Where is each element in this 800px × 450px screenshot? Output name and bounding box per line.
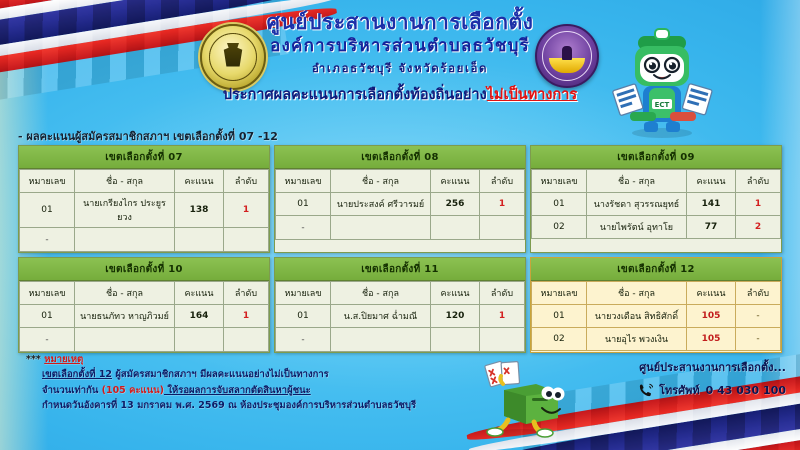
cell-name: นายไพรัตน์ อุทาโย bbox=[587, 216, 687, 239]
results-subtitle: - ผลคะแนนผู้สมัครสมาชิกสภาฯ เขตเลือกตั้ง… bbox=[18, 127, 278, 145]
district-title: เขตเลือกตั้งที่ 07 bbox=[19, 146, 269, 169]
note-district-ref: เขตเลือกตั้งที่ 12 bbox=[42, 369, 112, 380]
cell-score: 120 bbox=[431, 305, 480, 328]
announcement-unofficial-warning: ไม่เป็นทางการ bbox=[487, 87, 577, 103]
cell-name: นายเกรียงไกร ประยูรยวง bbox=[75, 193, 175, 228]
district-results-grid: เขตเลือกตั้งที่ 07 หมายเลข ชื่อ - สกุล ค… bbox=[18, 145, 783, 353]
col-score: คะแนน bbox=[687, 282, 736, 305]
district-card: เขตเลือกตั้งที่ 07 หมายเลข ชื่อ - สกุล ค… bbox=[18, 145, 270, 253]
cell-score bbox=[431, 216, 480, 240]
table-row: - bbox=[20, 228, 269, 252]
district-card: เขตเลือกตั้งที่ 11 หมายเลข ชื่อ - สกุล ค… bbox=[274, 257, 526, 353]
contact-office: ศูนย์ประสานงานการเลือกตั้ง... bbox=[638, 358, 786, 376]
district-table: หมายเลข ชื่อ - สกุล คะแนน ลำดับ 01 น.ส.ป… bbox=[275, 281, 525, 352]
ballot-box-mascot bbox=[470, 360, 566, 438]
table-header-row: หมายเลข ชื่อ - สกุล คะแนน ลำดับ bbox=[276, 282, 525, 305]
cell-number: - bbox=[20, 228, 75, 252]
cell-rank: 2 bbox=[736, 216, 781, 239]
table-header-row: หมายเลข ชื่อ - สกุล คะแนน ลำดับ bbox=[20, 282, 269, 305]
table-row: 02 นายอุไร พวงเงิน 105 - bbox=[532, 328, 781, 351]
col-score: คะแนน bbox=[431, 282, 480, 305]
district-title: เขตเลือกตั้งที่ 08 bbox=[275, 146, 525, 169]
district-table: หมายเลข ชื่อ - สกุล คะแนน ลำดับ 01 นายปร… bbox=[275, 169, 525, 240]
cell-rank: - bbox=[736, 328, 781, 351]
col-number: หมายเลข bbox=[532, 282, 587, 305]
cell-rank: 1 bbox=[480, 305, 525, 328]
cell-name bbox=[331, 328, 431, 352]
note-line-1: เขตเลือกตั้งที่ 12 ผู้สมัครสมาชิกสภาฯ มี… bbox=[26, 367, 416, 382]
cell-number: 01 bbox=[20, 305, 75, 328]
cell-rank: 1 bbox=[480, 193, 525, 216]
cell-score: 77 bbox=[687, 216, 736, 239]
footer-note: *** หมายเหตุ เขตเลือกตั้งที่ 12 ผู้สมัคร… bbox=[26, 352, 416, 414]
cell-number: 02 bbox=[532, 328, 587, 351]
cell-score: 164 bbox=[175, 305, 224, 328]
cell-score bbox=[175, 328, 224, 352]
note-line-3: กำหนดวันอังคารที่ 13 มกราคม พ.ศ. 2569 ณ … bbox=[26, 398, 416, 413]
cell-name: นายอุไร พวงเงิน bbox=[587, 328, 687, 351]
svg-text:ECT: ECT bbox=[655, 101, 670, 109]
cell-score bbox=[175, 228, 224, 252]
table-row: - bbox=[276, 328, 525, 352]
contact-phone-row: โทรศัพท์ 0 43 030 100 bbox=[638, 381, 786, 399]
note-tied-score: (105 คะแนน) bbox=[102, 385, 164, 396]
table-header-row: หมายเลข ชื่อ - สกุล คะแนน ลำดับ bbox=[276, 170, 525, 193]
table-row: - bbox=[20, 328, 269, 352]
table-row: 01 นางรัชดา สุวรรณยุทธ์ 141 1 bbox=[532, 193, 781, 216]
note-stars: *** bbox=[26, 354, 41, 365]
table-header-row: หมายเลข ชื่อ - สกุล คะแนน ลำดับ bbox=[532, 282, 781, 305]
poster-canvas: ศูนย์ประสานงานการเลือกตั้ง องค์การบริหาร… bbox=[0, 0, 800, 450]
district-card: เขตเลือกตั้งที่ 08 หมายเลข ชื่อ - สกุล ค… bbox=[274, 145, 526, 253]
cell-number: - bbox=[276, 328, 331, 352]
col-name: ชื่อ - สกุล bbox=[587, 170, 687, 193]
table-row: 02 นายไพรัตน์ อุทาโย 77 2 bbox=[532, 216, 781, 239]
col-rank: ลำดับ bbox=[224, 282, 269, 305]
col-number: หมายเลข bbox=[532, 170, 587, 193]
cell-number: 01 bbox=[276, 193, 331, 216]
note-line-2-text-b: ให้รอผลการจับสลากตัดสินหาผู้ชนะ bbox=[164, 385, 311, 396]
table-row: 01 นายวงเดือน สิทธิศักดิ์ 105 - bbox=[532, 305, 781, 328]
district-card: เขตเลือกตั้งที่ 09 หมายเลข ชื่อ - สกุล ค… bbox=[530, 145, 782, 253]
district-card: เขตเลือกตั้งที่ 10 หมายเลข ชื่อ - สกุล ค… bbox=[18, 257, 270, 353]
phone-icon bbox=[638, 383, 653, 398]
ect-robot-mascot: ECT bbox=[602, 20, 722, 140]
col-name: ชื่อ - สกุล bbox=[75, 282, 175, 305]
cell-name: นางรัชดา สุวรรณยุทธ์ bbox=[587, 193, 687, 216]
col-score: คะแนน bbox=[687, 170, 736, 193]
district-card-tie: เขตเลือกตั้งที่ 12 หมายเลข ชื่อ - สกุล ค… bbox=[530, 257, 782, 353]
contact-block: ศูนย์ประสานงานการเลือกตั้ง... โทรศัพท์ 0… bbox=[638, 358, 786, 399]
col-rank: ลำดับ bbox=[480, 282, 525, 305]
table-header-row: หมายเลข ชื่อ - สกุล คะแนน ลำดับ bbox=[20, 170, 269, 193]
cell-rank bbox=[224, 328, 269, 352]
cell-name: น.ส.ปิยมาศ ฉ่ำมณี bbox=[331, 305, 431, 328]
cell-rank: 1 bbox=[224, 193, 269, 228]
cell-rank: - bbox=[736, 305, 781, 328]
cell-score: 256 bbox=[431, 193, 480, 216]
district-table: หมายเลข ชื่อ - สกุล คะแนน ลำดับ 01 นายเก… bbox=[19, 169, 269, 252]
district-table: หมายเลข ชื่อ - สกุล คะแนน ลำดับ 01 นางรั… bbox=[531, 169, 781, 239]
cell-score: 105 bbox=[687, 305, 736, 328]
col-name: ชื่อ - สกุล bbox=[331, 170, 431, 193]
cell-number: 01 bbox=[276, 305, 331, 328]
cell-name bbox=[75, 228, 175, 252]
district-title: เขตเลือกตั้งที่ 09 bbox=[531, 146, 781, 169]
cell-rank: 1 bbox=[224, 305, 269, 328]
cell-number: - bbox=[276, 216, 331, 240]
cell-score bbox=[431, 328, 480, 352]
table-row: 01 น.ส.ปิยมาศ ฉ่ำมณี 120 1 bbox=[276, 305, 525, 328]
cell-score: 141 bbox=[687, 193, 736, 216]
district-table: หมายเลข ชื่อ - สกุล คะแนน ลำดับ 01 นายวง… bbox=[531, 281, 781, 351]
col-number: หมายเลข bbox=[276, 170, 331, 193]
cell-score: 138 bbox=[175, 193, 224, 228]
district-table: หมายเลข ชื่อ - สกุล คะแนน ลำดับ 01 นายธน… bbox=[19, 281, 269, 352]
col-rank: ลำดับ bbox=[480, 170, 525, 193]
note-label: หมายเหตุ bbox=[44, 354, 83, 365]
cell-rank bbox=[480, 216, 525, 240]
district-title: เขตเลือกตั้งที่ 10 bbox=[19, 258, 269, 281]
col-score: คะแนน bbox=[175, 282, 224, 305]
table-row: - bbox=[276, 216, 525, 240]
cell-number: 02 bbox=[532, 216, 587, 239]
col-rank: ลำดับ bbox=[224, 170, 269, 193]
col-number: หมายเลข bbox=[20, 170, 75, 193]
table-row: 01 นายธนภัทว หาญภิวมย์ 164 1 bbox=[20, 305, 269, 328]
cell-name bbox=[331, 216, 431, 240]
col-rank: ลำดับ bbox=[736, 282, 781, 305]
cell-number: 01 bbox=[532, 193, 587, 216]
table-row: 01 นายประสงค์ ศรีวารมย์ 256 1 bbox=[276, 193, 525, 216]
cell-score: 105 bbox=[687, 328, 736, 351]
cell-name: นายวงเดือน สิทธิศักดิ์ bbox=[587, 305, 687, 328]
table-header-row: หมายเลข ชื่อ - สกุล คะแนน ลำดับ bbox=[532, 170, 781, 193]
note-line-2: จำนวนเท่ากัน (105 คะแนน) ให้รอผลการจับสล… bbox=[26, 383, 416, 398]
col-name: ชื่อ - สกุล bbox=[75, 170, 175, 193]
note-heading: *** หมายเหตุ bbox=[26, 352, 416, 367]
col-score: คะแนน bbox=[431, 170, 480, 193]
phone-number: 0 43 030 100 bbox=[706, 384, 786, 397]
col-rank: ลำดับ bbox=[736, 170, 781, 193]
cell-rank: 1 bbox=[736, 193, 781, 216]
cell-rank bbox=[480, 328, 525, 352]
note-line-1-text: ผู้สมัครสมาชิกสภาฯ มีผลคะแนนอย่างไม่เป็น… bbox=[112, 369, 329, 380]
col-name: ชื่อ - สกุล bbox=[331, 282, 431, 305]
cell-number: 01 bbox=[20, 193, 75, 228]
cell-name: นายประสงค์ ศรีวารมย์ bbox=[331, 193, 431, 216]
col-name: ชื่อ - สกุล bbox=[587, 282, 687, 305]
table-row: 01 นายเกรียงไกร ประยูรยวง 138 1 bbox=[20, 193, 269, 228]
cell-number: - bbox=[20, 328, 75, 352]
announcement-text: ประกาศผลคะแนนการเลือกตั้งท้องถิ่นอย่าง bbox=[223, 87, 487, 103]
district-title: เขตเลือกตั้งที่ 11 bbox=[275, 258, 525, 281]
district-title: เขตเลือกตั้งที่ 12 bbox=[531, 258, 781, 281]
col-score: คะแนน bbox=[175, 170, 224, 193]
col-number: หมายเลข bbox=[20, 282, 75, 305]
note-line-2-text-a: จำนวนเท่ากัน bbox=[42, 385, 102, 396]
col-number: หมายเลข bbox=[276, 282, 331, 305]
cell-name bbox=[75, 328, 175, 352]
cell-number: 01 bbox=[532, 305, 587, 328]
phone-label: โทรศัพท์ bbox=[659, 381, 700, 399]
cell-rank bbox=[224, 228, 269, 252]
cell-name: นายธนภัทว หาญภิวมย์ bbox=[75, 305, 175, 328]
